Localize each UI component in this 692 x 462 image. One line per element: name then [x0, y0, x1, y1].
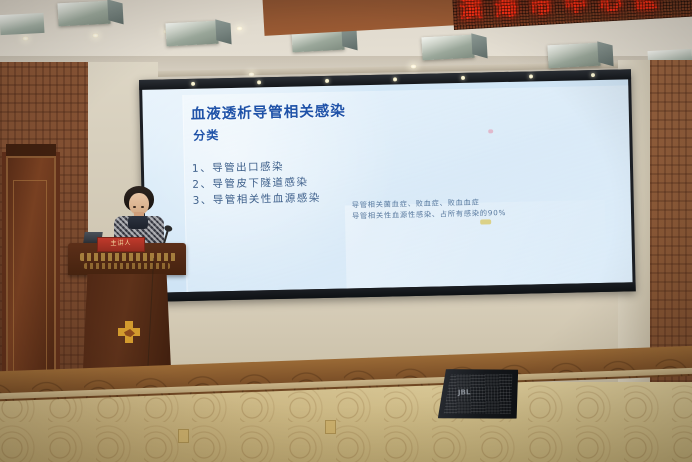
- door-header: [6, 144, 56, 156]
- conference-hall-photo: 滨 海 市 中 心 医: [0, 0, 692, 462]
- ceiling-downlight: [236, 26, 243, 31]
- slide-note-block: 导管相关菌血症、败血症、败血血症 导管相关性血源性感染、占所有感染的90%: [352, 196, 507, 221]
- presenter-scarf: [128, 216, 148, 229]
- screen-light-dot: [393, 77, 397, 81]
- stage-monitor-speaker: JBL: [436, 367, 520, 422]
- floor-tape-marker: [178, 429, 189, 443]
- screen-light-dot: [529, 74, 533, 78]
- ceiling-downlight: [22, 36, 29, 41]
- slide-pink-mark: [488, 129, 493, 133]
- slide-subtitle: 分类: [193, 126, 219, 144]
- slide-yellow-mark: [480, 219, 491, 224]
- screen-light-dot: [257, 80, 261, 84]
- presenter-eye: [141, 206, 144, 208]
- monitor-grille: [442, 372, 513, 416]
- screen-light-dot: [461, 76, 465, 80]
- podium-name-plate: 主讲人: [97, 237, 145, 252]
- door-panel: [13, 180, 47, 372]
- ceiling-light-fixture: [421, 35, 474, 61]
- presentation-slide: 血液透析导管相关感染 分类 1、导管出口感染 2、导管皮下隧道感染 3、导管相关…: [142, 79, 632, 293]
- ceiling-light-fixture: [57, 1, 110, 27]
- floor-tape-marker: [325, 420, 336, 434]
- projection-screen: 血液透析导管相关感染 分类 1、导管出口感染 2、导管皮下隧道感染 3、导管相关…: [139, 69, 636, 302]
- screen-light-dot: [325, 79, 329, 83]
- ceiling-downlight: [92, 33, 99, 38]
- podium-plate-text: 主讲人: [98, 238, 144, 249]
- screen-light-dot: [591, 73, 595, 77]
- ceiling-downlight: [248, 72, 255, 77]
- slide-bullet-list: 1、导管出口感染 2、导管皮下隧道感染 3、导管相关性血源感染: [192, 158, 321, 209]
- ceiling-light-fixture: [547, 43, 600, 69]
- ceiling-light-fixture: [165, 21, 218, 47]
- monitor-logo: JBL: [458, 388, 471, 396]
- gold-cross-emblem: [118, 321, 140, 343]
- ceiling-downlight: [410, 64, 417, 69]
- podium-gold-text-line-1: [80, 253, 176, 261]
- podium-gold-text-line-2: [84, 263, 170, 269]
- presenter-eye: [133, 206, 136, 208]
- ceiling-light-fixture: [0, 13, 44, 35]
- slide-title: 血液透析导管相关感染: [191, 100, 346, 124]
- screen-light-dot: [191, 82, 195, 86]
- wooden-door[interactable]: [2, 152, 60, 390]
- slide-bullet: 3、导管相关性血源感染: [192, 190, 321, 209]
